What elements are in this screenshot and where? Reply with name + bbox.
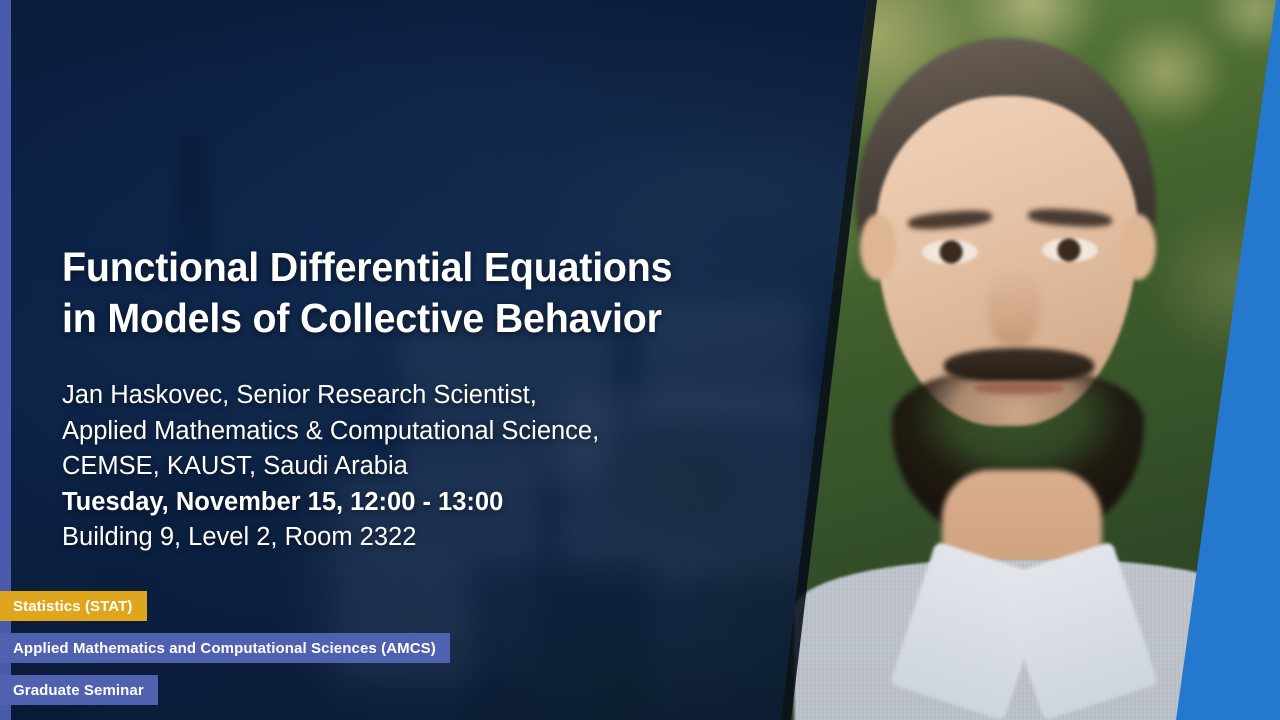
detail-affiliation: CEMSE, KAUST, Saudi Arabia: [62, 449, 792, 485]
detail-location: Building 9, Level 2, Room 2322: [62, 520, 792, 556]
portrait-eye-right: [1042, 238, 1098, 262]
tag-graduate-seminar[interactable]: Graduate Seminar: [0, 675, 158, 705]
tag-list: Statistics (STAT) Applied Mathematics an…: [0, 591, 450, 705]
seminar-details: Jan Haskovec, Senior Research Scientist,…: [62, 378, 792, 556]
tag-amcs[interactable]: Applied Mathematics and Computational Sc…: [0, 633, 450, 663]
page-title: Functional Differential Equations in Mod…: [62, 242, 763, 344]
portrait-ear-left: [860, 214, 896, 280]
tag-row-statistics: Statistics (STAT): [0, 591, 450, 621]
portrait-nose: [988, 268, 1040, 346]
tag-statistics[interactable]: Statistics (STAT): [0, 591, 147, 621]
poster-content: Functional Differential Equations in Mod…: [62, 0, 792, 720]
detail-program: Applied Mathematics & Computational Scie…: [62, 414, 792, 450]
seminar-poster: Functional Differential Equations in Mod…: [0, 0, 1280, 720]
portrait-mustache: [944, 348, 1094, 382]
portrait-mouth: [974, 382, 1064, 394]
portrait-eye-left: [922, 240, 978, 264]
portrait-ear-right: [1120, 214, 1156, 280]
title-line-2: in Models of Collective Behavior: [62, 293, 763, 344]
title-line-1: Functional Differential Equations: [62, 242, 763, 293]
tag-row-amcs: Applied Mathematics and Computational Sc…: [0, 633, 450, 663]
detail-date-time: Tuesday, November 15, 12:00 - 13:00: [62, 485, 792, 521]
tag-row-graduate-seminar: Graduate Seminar: [0, 675, 450, 705]
detail-speaker-name-role: Jan Haskovec, Senior Research Scientist,: [62, 378, 792, 414]
